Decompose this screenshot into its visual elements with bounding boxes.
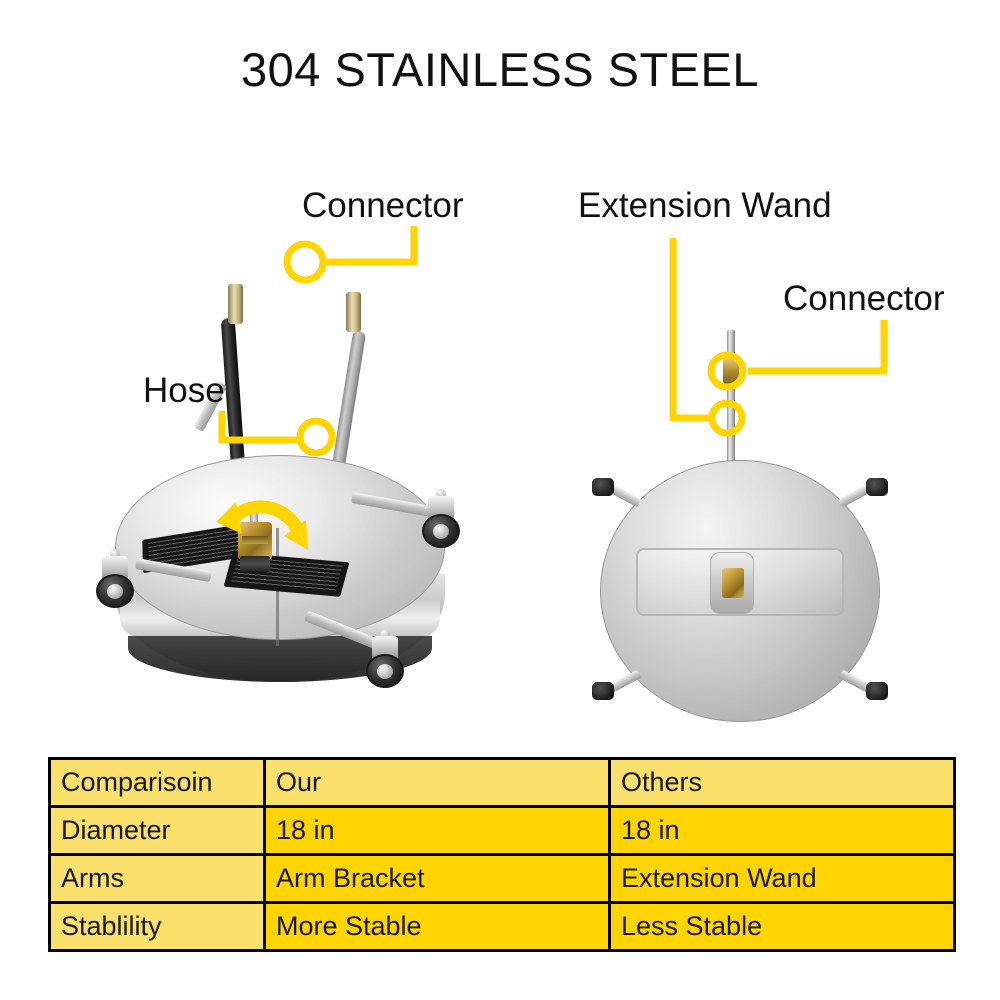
row-our-diameter: 18 in — [265, 807, 610, 855]
table-header-row: Comparisoin Our Others — [50, 759, 955, 807]
table-row-arms: Arms Arm Bracket Extension Wand — [50, 855, 955, 903]
row-label-arms: Arms — [50, 855, 265, 903]
row-label-stability: Stablility — [50, 903, 265, 951]
others-brass-center-fitting — [722, 568, 744, 598]
table-header-our: Our — [265, 759, 610, 807]
row-others-arms: Extension Wand — [610, 855, 955, 903]
wand-brass-fitting — [723, 358, 739, 384]
grey-hose-ferrule — [346, 292, 361, 332]
row-others-diameter: 18 in — [610, 807, 955, 855]
table-row-diameter: Diameter 18 in 18 in — [50, 807, 955, 855]
comparison-table: Comparisoin Our Others Diameter 18 in 18… — [48, 757, 956, 952]
row-our-stability: More Stable — [265, 903, 610, 951]
infographic-page: 304 STAINLESS STEEL — [0, 0, 1000, 1000]
caster-wheel-right — [420, 496, 462, 548]
row-others-stability: Less Stable — [610, 903, 955, 951]
wheel-top-right — [866, 478, 888, 496]
wheel-top-left — [592, 478, 614, 496]
callout-label-extension-wand: Extension Wand — [578, 186, 832, 226]
wheel-bottom-right — [866, 682, 888, 700]
rotation-arrow-icon — [210, 490, 320, 570]
table-row-stability: Stablility More Stable Less Stable — [50, 903, 955, 951]
caster-wheel-left — [94, 556, 136, 608]
callout-label-connector-right: Connector — [783, 279, 944, 319]
left-product-image — [80, 300, 510, 740]
row-label-diameter: Diameter — [50, 807, 265, 855]
callout-label-connector-left: Connector — [302, 186, 463, 226]
table-header-comparison: Comparisoin — [50, 759, 265, 807]
wheel-bottom-left — [592, 682, 614, 700]
leader-connector-left — [323, 226, 414, 262]
table-header-others: Others — [610, 759, 955, 807]
row-our-arms: Arm Bracket — [265, 855, 610, 903]
hose-ferrule-top — [228, 284, 243, 324]
highlight-ring-connector-left — [287, 244, 323, 280]
callout-label-hose: Hose — [143, 371, 225, 411]
caster-wheel-front — [364, 636, 406, 688]
page-title: 304 STAINLESS STEEL — [0, 42, 1000, 97]
right-product-image — [590, 330, 890, 730]
